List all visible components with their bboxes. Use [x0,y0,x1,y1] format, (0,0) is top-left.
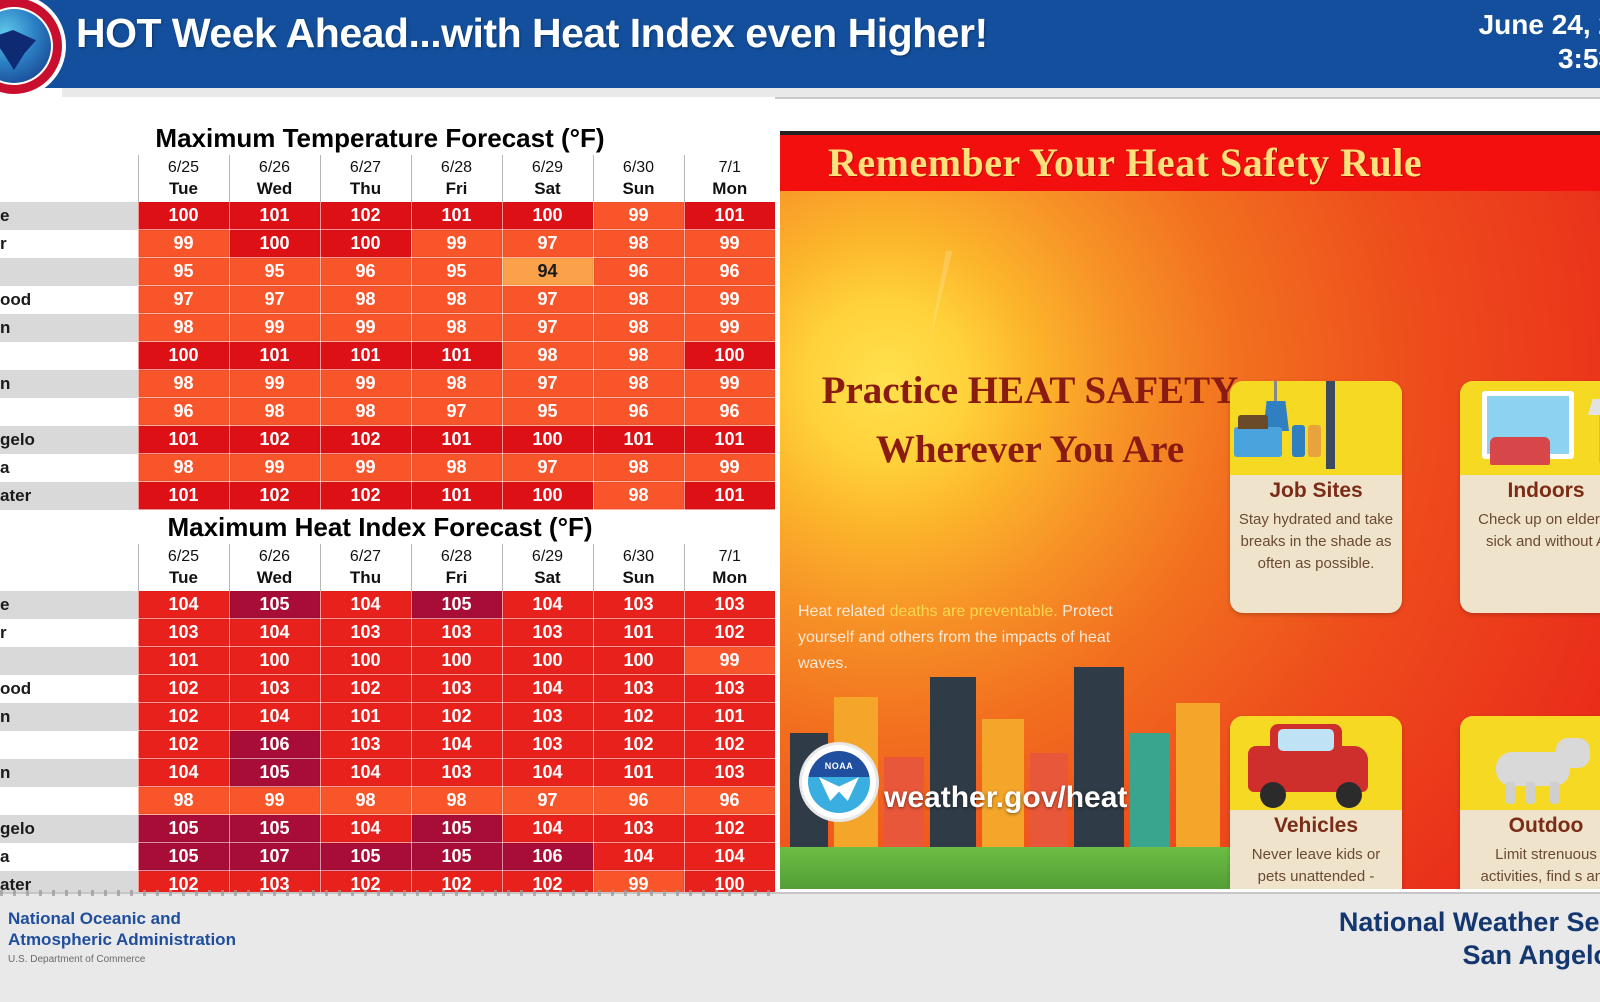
forecast-value-cell: 98 [229,398,320,426]
forecast-value-cell: 99 [684,230,775,258]
column-day: Wed [230,178,320,199]
forecast-value-cell: 103 [320,619,411,647]
column-date: 6/27 [321,157,411,178]
forecast-value-cell: 96 [684,787,775,815]
forecast-value-cell: 99 [320,370,411,398]
city-label: n [0,314,138,342]
forecast-value-cell: 99 [229,454,320,482]
forecast-value-cell: 101 [229,202,320,230]
column-header-sat: 6/29Sat [502,544,593,591]
forecast-value-cell: 101 [593,426,684,454]
forecast-value-cell: 102 [229,426,320,454]
forecast-value-cell: 98 [138,454,229,482]
column-day: Thu [321,178,411,199]
forecast-value-cell: 98 [593,370,684,398]
forecast-value-cell: 98 [320,286,411,314]
column-header-sat: 6/29Sat [502,155,593,202]
column-day: Sat [503,178,593,199]
infographic-headline: Practice HEAT SAFETY Wherever You Are [820,361,1240,479]
vehicles-illustration [1230,716,1402,810]
column-day: Wed [230,567,320,588]
forecast-value-cell: 105 [411,815,502,843]
column-date: 6/29 [503,546,593,567]
forecast-value-cell: 100 [138,342,229,370]
forecast-value-cell: 102 [593,731,684,759]
table-row: e104105104105104103103 [0,591,775,619]
max-heat-index-table: 6/25Tue6/26Wed6/27Thu6/28Fri6/29Sat6/30S… [0,544,776,899]
forecast-value-cell: 103 [593,675,684,703]
building [930,677,976,853]
table-row: ater10110210210110098101 [0,482,775,510]
column-day: Thu [321,567,411,588]
column-date: 6/30 [594,546,684,567]
nws-logo-icon [0,0,66,98]
forecast-value-cell: 95 [411,258,502,286]
table-row: 1001011011019898100 [0,342,775,370]
column-date: 6/28 [412,157,502,178]
forecast-value-cell: 103 [684,675,775,703]
infographic-body: Practice HEAT SAFETY Wherever You Are He… [780,191,1600,889]
forecast-value-cell: 97 [502,370,593,398]
forecast-value-cell: 105 [411,843,502,871]
forecast-value-cell: 100 [593,647,684,675]
forecast-value-cell: 100 [502,647,593,675]
forecast-value-cell: 102 [411,703,502,731]
note-lead: Heat related [798,603,890,620]
page-title: HOT Week Ahead...with Heat Index even Hi… [76,10,988,57]
forecast-value-cell: 107 [229,843,320,871]
tip-card-indoors: Indoors Check up on elderly, sick and wi… [1460,381,1600,613]
forecast-value-cell: 99 [229,787,320,815]
forecast-value-cell: 105 [229,815,320,843]
city-label [0,787,138,815]
forecast-value-cell: 98 [138,787,229,815]
city-label: gelo [0,426,138,454]
forecast-value-cell: 97 [502,454,593,482]
forecast-value-cell: 99 [411,230,502,258]
forecast-value-cell: 95 [229,258,320,286]
tip-desc: Stay hydrated and take breaks in the sha… [1238,509,1394,575]
forecast-value-cell: 97 [138,286,229,314]
noaa-seal-label: NOAA [802,761,876,771]
table-row: 10110010010010010099 [0,647,775,675]
ground-strip [780,847,1250,889]
forecast-value-cell: 101 [684,426,775,454]
column-header-fri: 6/28Fri [411,155,502,202]
city-label: n [0,370,138,398]
column-date: 6/25 [139,157,229,178]
forecast-value-cell: 96 [684,398,775,426]
noaa-agency-name: National Oceanic and Atmospheric Adminis… [8,908,236,950]
city-label: ood [0,286,138,314]
tip-card-job-sites: Job Sites Stay hydrated and take breaks … [1230,381,1402,613]
forecast-value-cell: 103 [320,731,411,759]
forecast-value-cell: 98 [138,370,229,398]
table-row: e10010110210110099101 [0,202,775,230]
column-date: 7/1 [685,157,776,178]
forecast-value-cell: 101 [411,426,502,454]
heat-table-head: 6/25Tue6/26Wed6/27Thu6/28Fri6/29Sat6/30S… [0,544,775,591]
city-label [0,647,138,675]
forecast-value-cell: 101 [684,703,775,731]
column-header-wed: 6/26Wed [229,544,320,591]
nws-line-2: San Angelo [1339,939,1600,972]
city-label: a [0,454,138,482]
note-highlight: deaths are preventable. [890,603,1058,620]
indoors-illustration [1460,381,1600,475]
tip-name: Outdoo [1460,814,1600,838]
forecast-value-cell: 103 [411,759,502,787]
forecast-value-cell: 99 [320,314,411,342]
tip-desc: Never leave kids or pets unattended - LO… [1238,844,1394,889]
forecast-value-cell: 104 [138,759,229,787]
infographic-banner-text: Remember Your Heat Safety Rule [828,139,1422,186]
forecast-value-cell: 104 [684,843,775,871]
forecast-value-cell: 100 [229,647,320,675]
forecast-value-cell: 97 [502,314,593,342]
heat-header-row: 6/25Tue6/26Wed6/27Thu6/28Fri6/29Sat6/30S… [0,544,775,591]
forecast-value-cell: 103 [593,591,684,619]
forecast-value-cell: 98 [411,286,502,314]
forecast-value-cell: 99 [684,286,775,314]
city-label: ater [0,482,138,510]
forecast-value-cell: 96 [138,398,229,426]
nws-line-1: National Weather Ser [1339,906,1600,939]
footer-dotted-rule [0,890,775,896]
forecast-value-cell: 100 [320,230,411,258]
forecast-value-cell: 98 [593,314,684,342]
forecast-value-cell: 98 [593,286,684,314]
forecast-value-cell: 98 [593,454,684,482]
table-row: r103104103103103101102 [0,619,775,647]
forecast-value-cell: 99 [684,647,775,675]
forecast-value-cell: 105 [138,843,229,871]
header-datetime: June 24, 2 3:53 [1479,8,1600,76]
temp-table-body: e10010110210110099101r991001009997989995… [0,202,775,510]
forecast-value-cell: 101 [138,426,229,454]
table-row: 96989897959696 [0,398,775,426]
forecast-value-cell: 94 [502,258,593,286]
city-label: n [0,759,138,787]
column-day: Mon [685,567,776,588]
forecast-value-cell: 104 [502,675,593,703]
forecast-value-cell: 104 [320,759,411,787]
forecast-value-cell: 105 [320,843,411,871]
forecast-value-cell: 104 [502,759,593,787]
forecast-value-cell: 103 [502,619,593,647]
column-header-sun: 6/30Sun [593,155,684,202]
forecast-value-cell: 101 [320,703,411,731]
headline-line-2: Wherever You Are [820,420,1240,479]
forecast-value-cell: 102 [320,202,411,230]
city-label: e [0,202,138,230]
city-label: a [0,843,138,871]
forecast-value-cell: 99 [229,370,320,398]
tip-card-vehicles: Vehicles Never leave kids or pets unatte… [1230,716,1402,889]
table-row: a105107105105106104104 [0,843,775,871]
table-row: ood102103102103104103103 [0,675,775,703]
column-header-thu: 6/27Thu [320,544,411,591]
forecast-value-cell: 102 [684,815,775,843]
forecast-value-cell: 96 [320,258,411,286]
column-date: 6/26 [230,157,320,178]
forecast-value-cell: 98 [138,314,229,342]
temp-table-title: Maximum Temperature Forecast (°F) [0,123,760,154]
forecast-value-cell: 102 [320,482,411,510]
column-day: Tue [139,567,229,588]
column-header-mon: 7/1Mon [684,544,775,591]
forecast-value-cell: 97 [502,286,593,314]
city-label: gelo [0,815,138,843]
forecast-value-cell: 99 [684,454,775,482]
forecast-value-cell: 100 [684,342,775,370]
table-row: 95959695949696 [0,258,775,286]
forecast-value-cell: 104 [320,591,411,619]
outdoors-illustration [1460,716,1600,810]
column-day: Mon [685,178,776,199]
forecast-value-cell: 105 [229,591,320,619]
forecast-value-cell: 102 [684,731,775,759]
forecast-value-cell: 104 [502,815,593,843]
forecast-value-cell: 99 [684,370,775,398]
table-row: 98999898979696 [0,787,775,815]
heat-table-body: e104105104105104103103r10310410310310310… [0,591,775,899]
forecast-value-cell: 96 [593,787,684,815]
noaa-line-2: Atmospheric Administration [8,929,236,950]
building [1074,667,1124,853]
heat-safety-infographic: Remember Your Heat Safety Rule Practice … [775,128,1600,892]
city-label: n [0,703,138,731]
infographic-banner: Remember Your Heat Safety Rule [780,135,1600,191]
city-label: r [0,230,138,258]
forecast-value-cell: 96 [593,258,684,286]
forecast-value-cell: 100 [320,647,411,675]
column-day: Fri [412,567,502,588]
column-date: 6/28 [412,546,502,567]
column-header-tue: 6/25Tue [138,155,229,202]
forecast-value-cell: 103 [138,619,229,647]
forecast-value-cell: 98 [320,398,411,426]
tip-desc: Limit strenuous activities, find s and s… [1468,844,1600,889]
forecast-value-cell: 98 [593,342,684,370]
forecast-value-cell: 100 [229,230,320,258]
forecast-value-cell: 97 [229,286,320,314]
page-footer: National Oceanic and Atmospheric Adminis… [0,892,1600,1002]
forecast-value-cell: 99 [320,454,411,482]
forecast-value-cell: 99 [684,314,775,342]
forecast-value-cell: 101 [411,342,502,370]
tip-desc: Check up on elderly, sick and without A [1468,509,1600,553]
forecast-value-cell: 105 [229,759,320,787]
city-label [0,398,138,426]
city-label: e [0,591,138,619]
forecast-value-cell: 100 [502,202,593,230]
column-header-fri: 6/28Fri [411,544,502,591]
forecast-value-cell: 102 [320,426,411,454]
city-label: r [0,619,138,647]
forecast-value-cell: 102 [138,703,229,731]
forecast-value-cell: 106 [502,843,593,871]
table-row: n104105104103104101103 [0,759,775,787]
forecast-value-cell: 103 [684,591,775,619]
headline-line-1: Practice HEAT SAFETY [820,361,1240,420]
forecast-value-cell: 101 [411,482,502,510]
forecast-value-cell: 101 [593,619,684,647]
forecast-value-cell: 99 [138,230,229,258]
column-header-wed: 6/26Wed [229,155,320,202]
forecast-value-cell: 100 [502,482,593,510]
page-header: HOT Week Ahead...with Heat Index even Hi… [0,0,1600,88]
city-label: ood [0,675,138,703]
forecast-value-cell: 102 [138,731,229,759]
forecast-value-cell: 101 [320,342,411,370]
forecast-value-cell: 98 [320,787,411,815]
table-row: gelo105105104105104103102 [0,815,775,843]
forecast-value-cell: 104 [229,703,320,731]
forecast-value-cell: 103 [502,703,593,731]
forecast-tables-panel: Maximum Temperature Forecast (°F) 6/25Tu… [0,97,775,892]
forecast-value-cell: 104 [593,843,684,871]
forecast-value-cell: 101 [138,647,229,675]
forecast-value-cell: 102 [320,675,411,703]
forecast-value-cell: 101 [229,342,320,370]
table-row: r9910010099979899 [0,230,775,258]
forecast-value-cell: 103 [411,619,502,647]
temp-table-head: 6/25Tue6/26Wed6/27Thu6/28Fri6/29Sat6/30S… [0,155,775,202]
table-row: gelo101102102101100101101 [0,426,775,454]
column-header-mon: 7/1Mon [684,155,775,202]
forecast-value-cell: 98 [502,342,593,370]
column-day: Fri [412,178,502,199]
forecast-value-cell: 103 [502,731,593,759]
forecast-value-cell: 102 [138,675,229,703]
tip-name: Indoors [1460,479,1600,503]
forecast-value-cell: 102 [593,703,684,731]
forecast-value-cell: 104 [411,731,502,759]
forecast-value-cell: 96 [684,258,775,286]
tip-name: Job Sites [1230,479,1402,503]
table-row: 102106103104103102102 [0,731,775,759]
forecast-value-cell: 99 [229,314,320,342]
forecast-value-cell: 102 [684,619,775,647]
forecast-value-cell: 100 [411,647,502,675]
column-header-sun: 6/30Sun [593,544,684,591]
forecast-value-cell: 101 [593,759,684,787]
tip-card-outdoors: Outdoo Limit strenuous activities, find … [1460,716,1600,889]
nws-office-name: National Weather Ser San Angelo [1339,906,1600,972]
column-header-thu: 6/27Thu [320,155,411,202]
forecast-value-cell: 103 [411,675,502,703]
forecast-value-cell: 100 [138,202,229,230]
column-day: Sat [503,567,593,588]
forecast-value-cell: 103 [684,759,775,787]
forecast-value-cell: 98 [411,454,502,482]
column-date: 6/25 [139,546,229,567]
max-temperature-table: 6/25Tue6/26Wed6/27Thu6/28Fri6/29Sat6/30S… [0,155,776,510]
forecast-value-cell: 104 [320,815,411,843]
infographic-frame: Remember Your Heat Safety Rule Practice … [780,131,1600,889]
forecast-value-cell: 97 [502,230,593,258]
city-label [0,731,138,759]
city-label [0,258,138,286]
table-row: n102104101102103102101 [0,703,775,731]
noaa-department-line: U.S. Department of Commerce [8,954,145,965]
header-date-line: June 24, 2 [1479,8,1600,42]
forecast-value-cell: 106 [229,731,320,759]
forecast-value-cell: 104 [229,619,320,647]
forecast-value-cell: 103 [593,815,684,843]
forecast-value-cell: 98 [593,482,684,510]
column-day: Sun [594,178,684,199]
forecast-value-cell: 98 [593,230,684,258]
column-date: 6/29 [503,157,593,178]
tip-name: Vehicles [1230,814,1402,838]
noaa-seal-icon: NOAA [802,745,876,819]
forecast-value-cell: 95 [502,398,593,426]
column-date: 6/27 [321,546,411,567]
temp-corner-cell [0,155,138,202]
forecast-value-cell: 105 [411,591,502,619]
city-label [0,342,138,370]
table-row: n98999998979899 [0,370,775,398]
table-row: a98999998979899 [0,454,775,482]
forecast-value-cell: 104 [502,591,593,619]
forecast-value-cell: 101 [684,482,775,510]
temp-header-row: 6/25Tue6/26Wed6/27Thu6/28Fri6/29Sat6/30S… [0,155,775,202]
forecast-value-cell: 97 [411,398,502,426]
heat-corner-cell [0,544,138,591]
forecast-value-cell: 98 [411,314,502,342]
column-day: Tue [139,178,229,199]
column-date: 6/26 [230,546,320,567]
forecast-value-cell: 102 [229,482,320,510]
forecast-value-cell: 104 [138,591,229,619]
header-time-line: 3:53 [1479,42,1600,76]
column-date: 7/1 [685,546,776,567]
forecast-value-cell: 99 [593,202,684,230]
column-header-tue: 6/25Tue [138,544,229,591]
forecast-value-cell: 96 [593,398,684,426]
forecast-value-cell: 100 [502,426,593,454]
forecast-value-cell: 97 [502,787,593,815]
forecast-value-cell: 95 [138,258,229,286]
job-sites-illustration [1230,381,1402,475]
building [1176,703,1220,853]
noaa-line-1: National Oceanic and [8,908,236,929]
forecast-value-cell: 101 [138,482,229,510]
forecast-value-cell: 105 [138,815,229,843]
forecast-value-cell: 101 [684,202,775,230]
forecast-value-cell: 98 [411,787,502,815]
forecast-value-cell: 98 [411,370,502,398]
table-row: n98999998979899 [0,314,775,342]
table-row: ood97979898979899 [0,286,775,314]
weather-gov-heat-url: weather.gov/heat [884,781,1127,815]
forecast-value-cell: 103 [229,675,320,703]
column-date: 6/30 [594,157,684,178]
heat-table-title: Maximum Heat Index Forecast (°F) [0,512,760,543]
forecast-value-cell: 101 [411,202,502,230]
building [1130,733,1170,853]
column-day: Sun [594,567,684,588]
